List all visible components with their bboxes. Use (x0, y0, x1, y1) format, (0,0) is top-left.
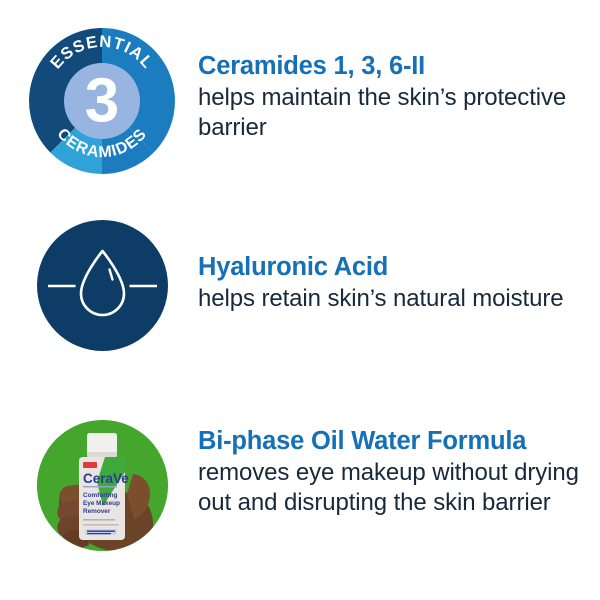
feature-body: removes eye makeup without drying out an… (198, 458, 592, 518)
icon-column (0, 220, 198, 351)
product-name-line1: Comforting (83, 492, 118, 499)
feature-body: helps retain skin’s natural moisture (198, 284, 592, 314)
product-name-line2: Eye Makeup (83, 500, 120, 507)
feature-title: Hyaluronic Acid (198, 253, 592, 283)
feature-title: Bi-phase Oil Water Formula (198, 427, 592, 457)
seal-number: 3 (85, 67, 119, 136)
feature-row-hyaluronic: Hyaluronic Acid helps retain skin’s natu… (0, 220, 600, 351)
feature-body: helps maintain the skin’s protective bar… (198, 83, 592, 143)
text-column: Ceramides 1, 3, 6-II helps maintain the … (198, 25, 600, 143)
feature-title: Ceramides 1, 3, 6-II (198, 52, 592, 82)
water-droplet-icon (37, 220, 168, 351)
product-name-line3: Remover (83, 508, 111, 515)
text-column: Bi-phase Oil Water Formula removes eye m… (198, 420, 600, 518)
text-column: Hyaluronic Acid helps retain skin’s natu… (198, 220, 600, 314)
icon-column: CeraVe Comforting Eye Makeup Remover (0, 420, 198, 551)
feature-list-page: 3 ESSENTIAL CERAMIDES Ceramides 1, 3, 6-… (0, 0, 600, 600)
icon-column: 3 ESSENTIAL CERAMIDES (0, 25, 198, 177)
feature-row-ceramides: 3 ESSENTIAL CERAMIDES Ceramides 1, 3, 6-… (0, 25, 600, 177)
essential-3-ceramides-seal-icon: 3 ESSENTIAL CERAMIDES (26, 25, 178, 177)
feature-row-biphase: CeraVe Comforting Eye Makeup Remover (0, 420, 600, 551)
product-bottle-in-hand-photo: CeraVe Comforting Eye Makeup Remover (37, 420, 168, 551)
product-brand-text: CeraVe (83, 471, 129, 486)
